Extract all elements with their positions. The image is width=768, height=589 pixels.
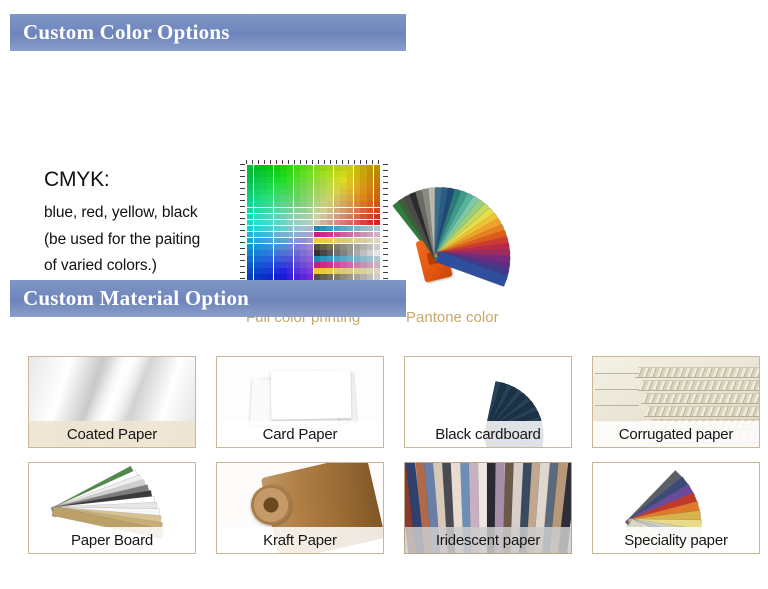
- cmyk-heading: CMYK:: [44, 168, 249, 191]
- custom-color-content: CMYK: blue, red, yellow, black (be used …: [0, 70, 768, 260]
- cmyk-line-2: (be used for the paiting: [44, 227, 249, 254]
- corrugated-flute-layer: [641, 393, 760, 404]
- material-label-speciality-paper: Speciality paper: [593, 527, 759, 553]
- material-label-kraft-paper: Kraft Paper: [217, 527, 383, 553]
- section-title-custom-color: Custom Color Options: [10, 20, 230, 45]
- caption-pantone-color: Pantone color: [406, 309, 499, 326]
- material-cell-corrugated-paper[interactable]: Corrugated paper: [592, 356, 760, 448]
- material-cell-paper-board[interactable]: Paper Board: [28, 462, 196, 554]
- cmyk-swatch-grid: [247, 165, 380, 286]
- cmyk-description-block: CMYK: blue, red, yellow, black (be used …: [44, 168, 249, 280]
- corrugated-flute-layer: [638, 380, 760, 391]
- section-header-custom-color: Custom Color Options: [10, 14, 406, 51]
- material-label-corrugated-paper: Corrugated paper: [593, 421, 759, 447]
- cmyk-color-chart-image: [240, 160, 388, 290]
- material-cell-black-cardboard[interactable]: Black cardboard: [404, 356, 572, 448]
- corrugated-flute-layer: [635, 367, 760, 378]
- material-label-black-cardboard: Black cardboard: [405, 421, 571, 447]
- corrugated-flute-layer: [644, 406, 760, 417]
- chart-ruler-right: [383, 164, 388, 286]
- section-title-custom-material: Custom Material Option: [10, 286, 249, 311]
- material-cell-iridescent-paper[interactable]: Iridescent paper: [404, 462, 572, 554]
- chart-ruler-top: [246, 160, 380, 164]
- cmyk-line-3: of varied colors.): [44, 253, 249, 280]
- material-cell-kraft-paper[interactable]: Kraft Paper: [216, 462, 384, 554]
- material-cell-coated-paper[interactable]: Coated Paper: [28, 356, 196, 448]
- material-label-card-paper: Card Paper: [217, 421, 383, 447]
- pantone-fan-deck-image: [404, 166, 516, 298]
- chart-ruler-left: [240, 164, 245, 286]
- material-cell-speciality-paper[interactable]: Speciality paper: [592, 462, 760, 554]
- product-detail-page: Custom Color Options CMYK: blue, red, ye…: [0, 0, 768, 589]
- material-cell-card-paper[interactable]: Card Paper: [216, 356, 384, 448]
- material-label-coated-paper: Coated Paper: [29, 421, 195, 447]
- material-label-paper-board: Paper Board: [29, 527, 195, 553]
- section-header-custom-material: Custom Material Option: [10, 280, 406, 317]
- material-label-iridescent-paper: Iridescent paper: [405, 527, 571, 553]
- cmyk-line-1: blue, red, yellow, black: [44, 200, 249, 227]
